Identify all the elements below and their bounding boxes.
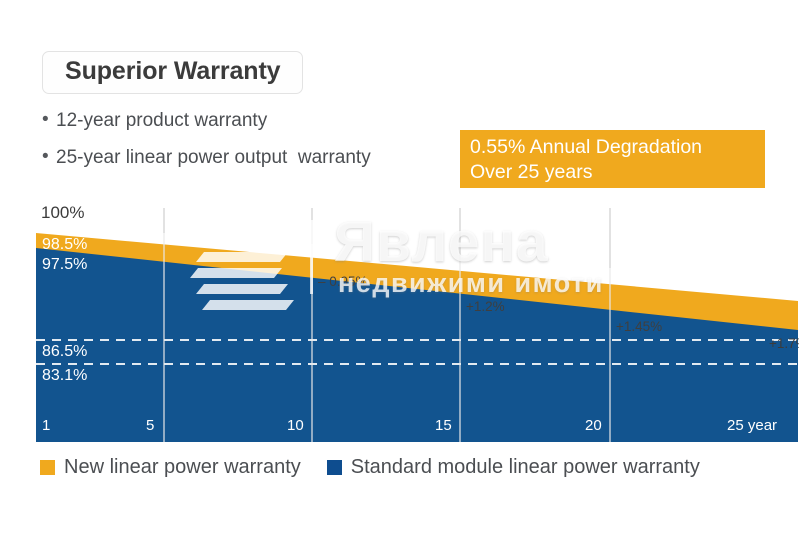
degradation-callout: 0.55% Annual Degradation Over 25 years [460,130,765,188]
bullet-label: 25-year linear power output warranty [56,147,371,168]
chart-legend: New linear power warranty Standard modul… [40,456,726,478]
value-label-831: 83.1% [42,367,87,384]
value-label-865: 86.5% [42,343,87,360]
list-item: • 25-year linear power output warranty [42,147,462,168]
value-label-985: 98.5% [42,236,87,253]
annotation-delta-15: +1.2% [466,300,505,314]
legend-item-standard: Standard module linear power warranty [327,456,700,478]
x-tick-20: 20 [585,418,602,434]
axis-label-100: 100% [41,204,84,222]
bullet-list: • 12-year product warranty • 25-year lin… [42,110,462,184]
x-tick-5: 5 [146,418,154,434]
page-title: Superior Warranty [65,59,280,84]
x-tick-25: 25 year [727,418,777,434]
slide-canvas: Superior Warranty • 12-year product warr… [0,0,799,533]
annotation-delta-10: – 0.95% [318,275,368,289]
x-tick-15: 15 [435,418,452,434]
legend-swatch-icon [327,460,342,475]
callout-line-2: Over 25 years [470,160,765,185]
warranty-area-chart: 100% 98.5% 97.5% 86.5% 83.1% – 0.95% +1.… [36,200,798,442]
bullet-marker-icon: • [42,110,56,130]
list-item: • 12-year product warranty [42,110,462,131]
bullet-marker-icon: • [42,147,56,167]
x-tick-1: 1 [42,418,50,434]
page-title-box: Superior Warranty [42,51,303,94]
legend-label: Standard module linear power warranty [351,456,700,478]
annotation-delta-25: +1.7% [769,337,799,351]
annotation-delta-20: +1.45% [616,320,662,334]
value-label-975: 97.5% [42,256,87,273]
x-tick-10: 10 [287,418,304,434]
callout-line-1: 0.55% Annual Degradation [470,135,765,160]
legend-swatch-icon [40,460,55,475]
legend-item-new: New linear power warranty [40,456,301,478]
bullet-label: 12-year product warranty [56,110,267,131]
legend-label: New linear power warranty [64,456,301,478]
chart-plot-area [36,200,798,442]
